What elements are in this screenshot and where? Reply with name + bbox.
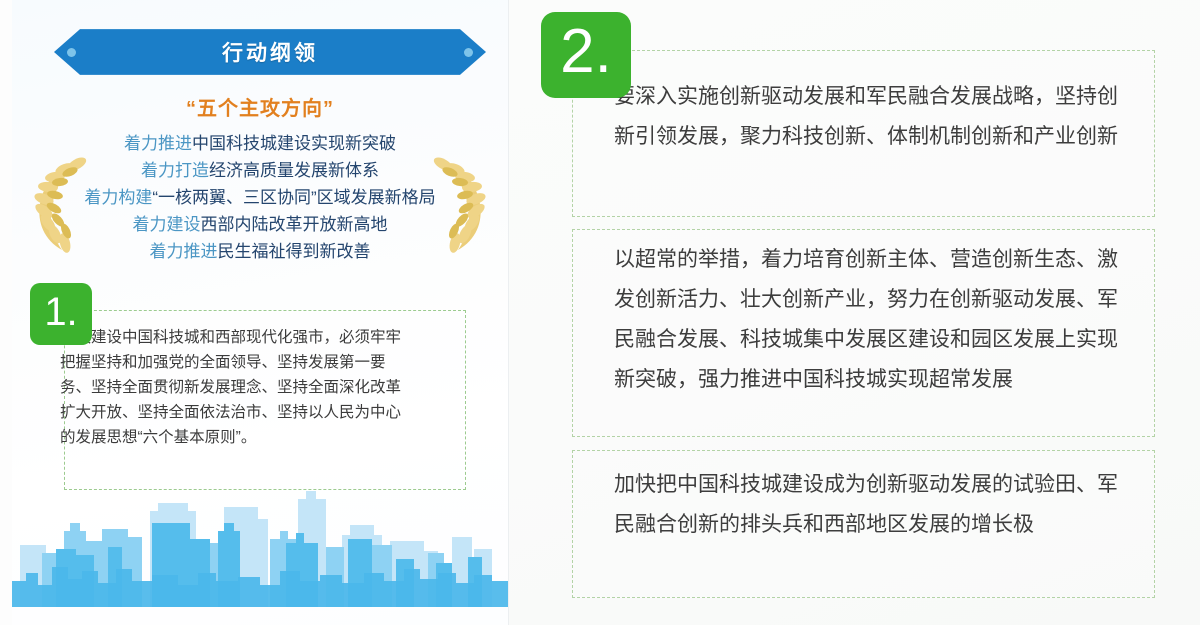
direction-prefix: 着力推进 [150, 242, 218, 261]
banner-title: 行动纲领 [54, 26, 486, 78]
direction-line: 着力构建“一核两翼、三区协同”区域发展新格局 [12, 184, 508, 211]
city-skyline-icon [12, 489, 508, 607]
five-main-directions: “五个主攻方向” 着力推进中国科技城建设实现新突破 着力打造经济高质量发展新体系… [12, 92, 508, 265]
direction-prefix: 着力构建 [84, 188, 152, 207]
paragraph-1-text: 要深入实施创新驱动发展和军民融合发展战略，坚持创新引领发展，聚力科技创新、体制机… [614, 77, 1134, 157]
direction-prefix: 着力打造 [141, 161, 209, 180]
direction-rest: 西部内陆改革开放新高地 [201, 215, 388, 234]
direction-rest: 经济高质量发展新体系 [209, 161, 379, 180]
direction-rest: 民生福祉得到新改善 [218, 242, 371, 261]
direction-prefix: 着力建设 [133, 215, 201, 234]
direction-line: 着力推进中国科技城建设实现新突破 [12, 130, 508, 157]
action-program-banner: 行动纲领 [54, 26, 486, 78]
direction-rest: “一核两翼、三区协同”区域发展新格局 [152, 188, 435, 207]
item-number-badge-2: 2. [541, 12, 631, 98]
paragraph-2-text: 以超常的举措，着力培育创新主体、营造创新生态、激发创新活力、壮大创新产业，努力在… [614, 240, 1134, 400]
left-panel: 行动纲领 [12, 0, 508, 625]
direction-prefix: 着力推进 [124, 134, 192, 153]
direction-line: 着力推进民生福祉得到新改善 [12, 238, 508, 265]
infographic-stage: 行动纲领 [0, 0, 1200, 625]
direction-line: 着力建设西部内陆改革开放新高地 [12, 211, 508, 238]
paragraph-3-text: 加快把中国科技城建设成为创新驱动发展的试验田、军民融合创新的排头兵和西部地区发展… [614, 465, 1134, 545]
directions-heading: “五个主攻方向” [12, 92, 508, 121]
direction-rest: 中国科技城建设实现新突破 [192, 134, 396, 153]
direction-line: 着力打造经济高质量发展新体系 [12, 157, 508, 184]
item-number-badge-1: 1. [30, 283, 92, 345]
item-1-text: 加快建设中国科技城和西部现代化强市，必须牢牢把握坚持和加强党的全面领导、坚持发展… [60, 325, 410, 450]
right-panel: 2. 要深入实施创新驱动发展和军民融合发展战略，坚持创新引领发展，聚力科技创新、… [509, 0, 1200, 625]
